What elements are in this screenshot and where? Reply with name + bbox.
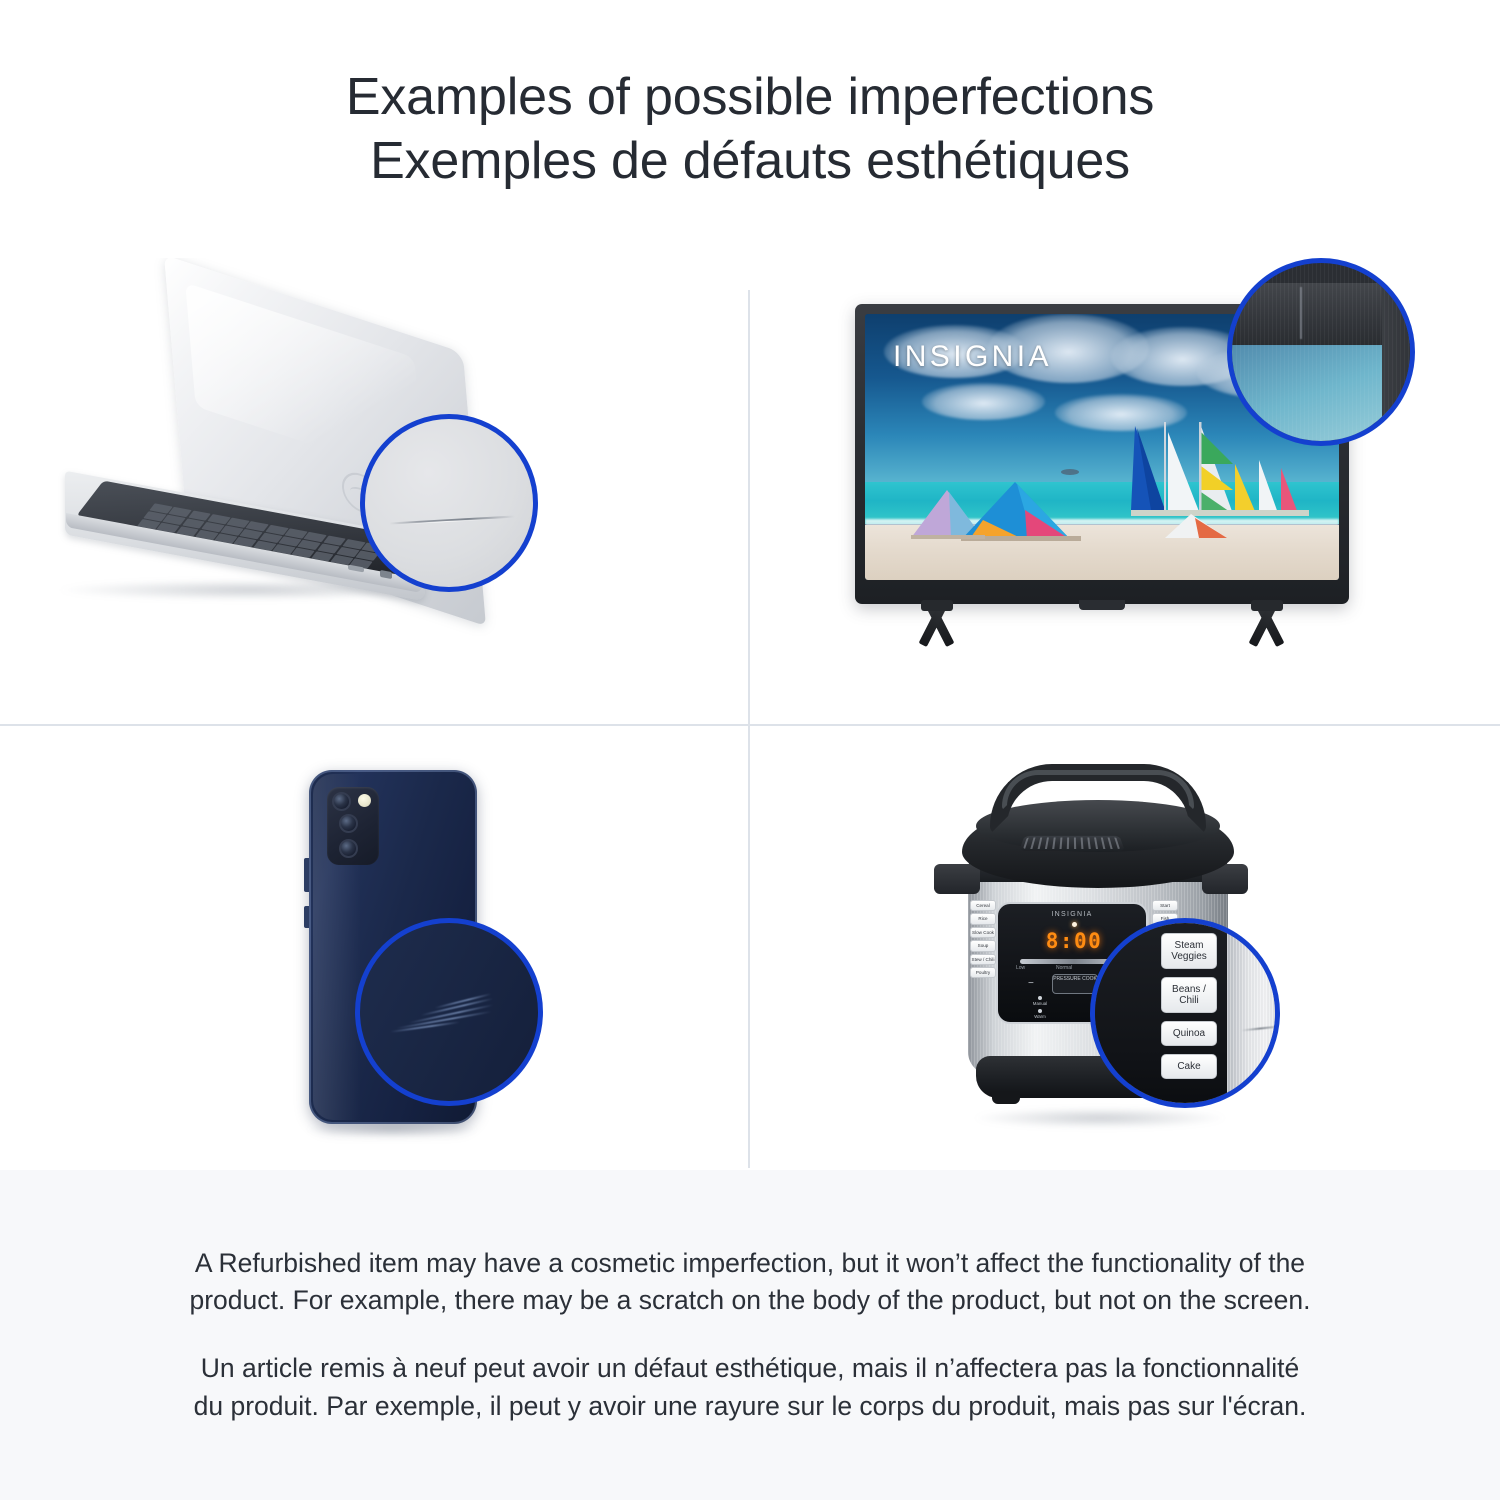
cooker-button[interactable]: Stew / Chili <box>970 954 996 965</box>
tv-foot-left <box>899 604 973 650</box>
page-header: Examples of possible imperfections Exemp… <box>0 0 1500 258</box>
cooker-shadow <box>975 1108 1225 1128</box>
phone-magnifier-circle <box>355 918 543 1106</box>
phone-camera-module <box>327 787 379 865</box>
cooker-magnified-steel <box>1227 919 1280 1108</box>
panel-pressure-cooker: Cereal Rice Slow Cook Soup Stew / Chili … <box>750 726 1498 1192</box>
cooker-keypad-left: Manual Warm <box>1014 996 1066 1020</box>
cooker-magnifier-circle: Steam Veggies Beans / Chili Quinoa Cake <box>1090 918 1280 1108</box>
cooker-button[interactable]: Poultry <box>970 967 996 978</box>
panel-laptop <box>0 258 748 724</box>
cooker-pressure-cook-button[interactable]: PRESSURE COOK <box>1052 974 1098 994</box>
cooker-handle-highlight <box>1002 770 1194 810</box>
tv-magnifier-circle <box>1227 258 1415 446</box>
cooker-button[interactable]: Soup <box>970 940 996 951</box>
cooker-magnified-button[interactable]: Steam Veggies <box>1161 933 1217 969</box>
pressure-cooker-figure: Cereal Rice Slow Cook Soup Stew / Chili … <box>940 756 1280 1134</box>
cooker-brand-label: INSIGNIA <box>998 911 1146 918</box>
cooker-button[interactable]: Rice <box>970 913 996 924</box>
smartphone-figure <box>287 770 497 1142</box>
cooker-magnified-button[interactable]: Beans / Chili <box>1161 977 1217 1013</box>
refurbished-imperfections-infographic: Examples of possible imperfections Exemp… <box>0 0 1500 1500</box>
camera-lens-icon <box>339 814 358 833</box>
cooker-status-led <box>1072 922 1077 927</box>
laptop-illustration <box>0 258 748 724</box>
footer-paragraph-english: A Refurbished item may have a cosmetic i… <box>185 1245 1315 1320</box>
smartphone-illustration <box>0 726 748 1192</box>
cooker-steam-valve <box>1019 836 1125 851</box>
footer-paragraph-french: Un article remis à neuf peut avoir un dé… <box>185 1350 1315 1425</box>
camera-lens-icon <box>339 839 358 858</box>
phone-power-button[interactable] <box>304 906 309 928</box>
page-title-french: Exemples de défauts esthétiques <box>370 129 1130 193</box>
laptop-scratch-mark <box>389 515 515 523</box>
cooker-magnified-button[interactable]: Cake <box>1161 1054 1217 1079</box>
tv-magnified-bezel <box>1232 263 1410 441</box>
cooker-button[interactable]: Slow Cook <box>970 927 996 938</box>
tv-brand-label: INSIGNIA <box>893 340 1052 374</box>
pressure-cooker-illustration: Cereal Rice Slow Cook Soup Stew / Chili … <box>750 726 1498 1192</box>
product-grid: INSIGNIA <box>0 258 1500 1168</box>
television-illustration: INSIGNIA <box>750 258 1498 724</box>
panel-television: INSIGNIA <box>750 258 1498 724</box>
cooker-decrease-button[interactable]: − <box>1028 978 1034 989</box>
phone-volume-button[interactable] <box>304 858 309 892</box>
cooker-key[interactable]: Warm <box>1014 1009 1066 1020</box>
cooker-slider-label-low: Low <box>1016 965 1025 971</box>
laptop-magnifier-circle <box>360 414 538 592</box>
panel-smartphone <box>0 726 748 1192</box>
tv-foot-right <box>1229 604 1303 650</box>
cooker-foot-left <box>992 1092 1020 1104</box>
camera-lens-icon <box>332 792 351 811</box>
laptop-figure <box>60 308 480 638</box>
page-title-english: Examples of possible imperfections <box>346 65 1154 129</box>
cooker-magnified-buttons: Steam Veggies Beans / Chili Quinoa Cake <box>1161 933 1217 1079</box>
cooker-magnified-panel <box>1091 919 1153 1108</box>
footer-description: A Refurbished item may have a cosmetic i… <box>0 1170 1500 1500</box>
cooker-button-column-left: Cereal Rice Slow Cook Soup Stew / Chili … <box>970 900 996 978</box>
cooker-key[interactable]: Manual <box>1014 996 1066 1007</box>
cooker-button[interactable]: Cereal <box>970 900 996 911</box>
cooker-button[interactable]: Start <box>1152 900 1178 911</box>
camera-flash-icon <box>358 794 371 807</box>
tv-logo-badge <box>1079 600 1125 610</box>
cooker-side-handle-left <box>934 864 980 894</box>
tv-bezel-grain <box>1232 263 1410 441</box>
cooker-slider-label-normal: Normal <box>1056 965 1072 971</box>
television-figure: INSIGNIA <box>855 286 1365 666</box>
cooker-magnified-button[interactable]: Quinoa <box>1161 1021 1217 1046</box>
phone-scratch-marks <box>390 993 520 1043</box>
cooker-magnified-grain <box>1227 919 1280 1108</box>
